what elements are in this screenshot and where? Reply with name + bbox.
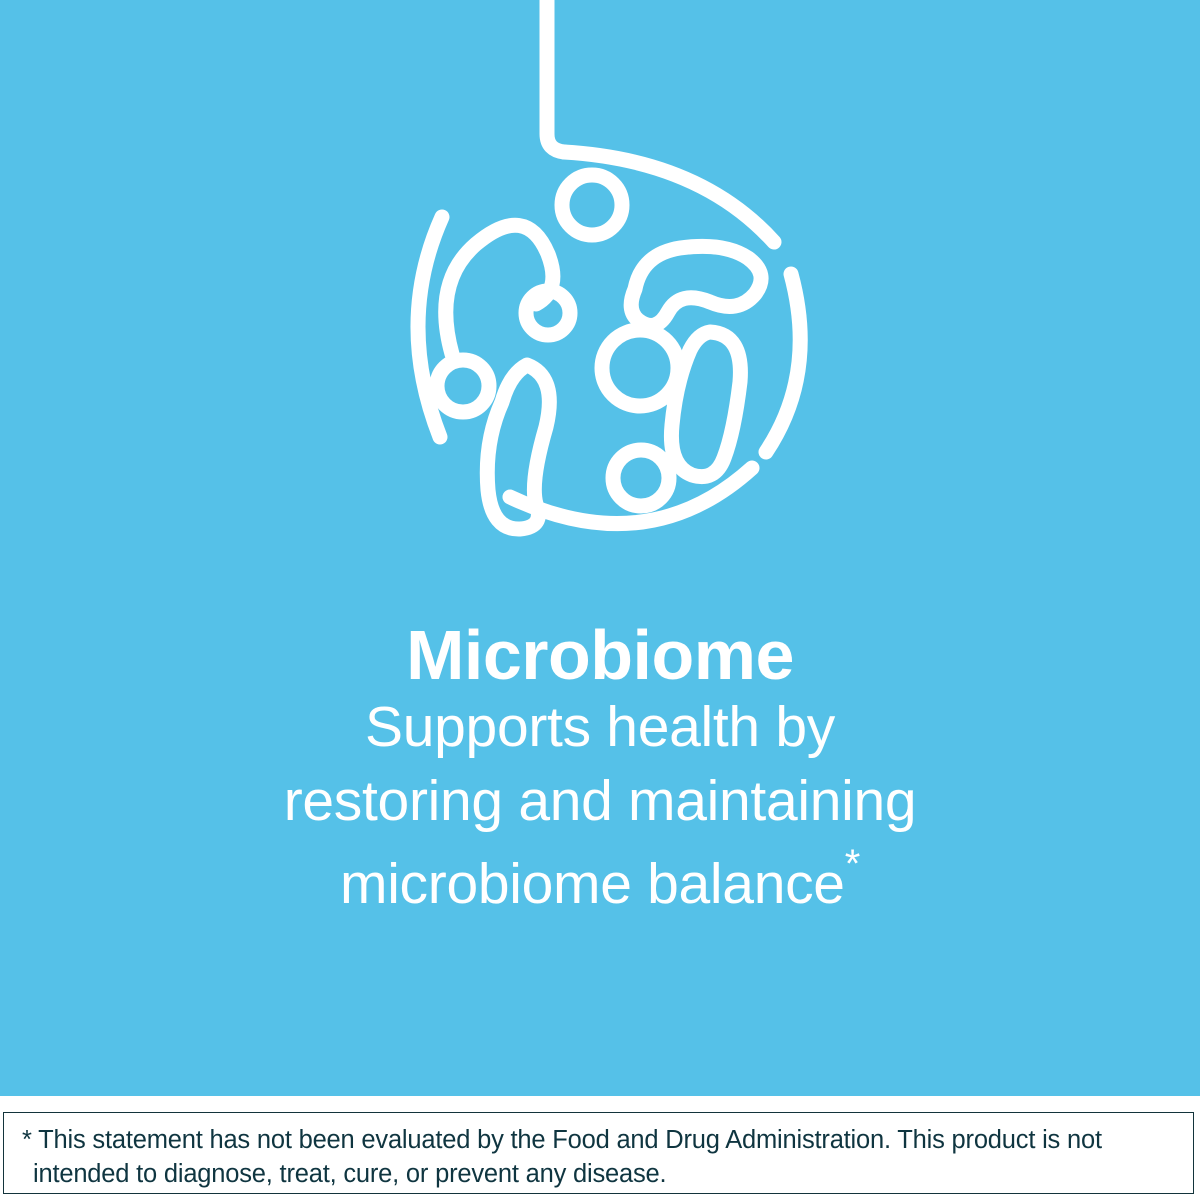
disclaimer-line-1: * This statement has not been evaluated … [22, 1124, 1162, 1158]
hero-panel: Microbiome Supports health by restoring … [0, 0, 1200, 1096]
subtitle-line-3: microbiome balance* [0, 838, 1200, 921]
hero-subtitle: Supports health by restoring and maintai… [0, 690, 1200, 921]
microbe-ring-center [602, 330, 678, 406]
disclaimer-text: * This statement has not been evaluated … [22, 1124, 1162, 1191]
bacterium-rod-upper-right [631, 246, 761, 325]
product-benefit-card: Microbiome Supports health by restoring … [0, 0, 1200, 1200]
microbiome-icon [380, 0, 830, 562]
page-title: Microbiome [0, 620, 1200, 690]
microbe-ring-small-center [526, 291, 570, 335]
disclaimer-line-2: intended to diagnose, treat, cure, or pr… [22, 1158, 1162, 1192]
subtitle-line-3-text: microbiome balance [340, 852, 845, 916]
microbe-ring-left [437, 360, 489, 412]
microbe-ring-bottom [613, 450, 669, 506]
rim-arc-right [766, 274, 800, 452]
footer-spacer [0, 1096, 1200, 1112]
disclaimer-box: * This statement has not been evaluated … [3, 1112, 1194, 1194]
microbe-ring-top [562, 175, 622, 235]
footnote-marker: * [845, 842, 860, 886]
subtitle-line-1: Supports health by [0, 690, 1200, 764]
stem-path [547, 0, 564, 152]
hero-text-block: Microbiome Supports health by restoring … [0, 620, 1200, 921]
subtitle-line-2: restoring and maintaining [0, 764, 1200, 838]
